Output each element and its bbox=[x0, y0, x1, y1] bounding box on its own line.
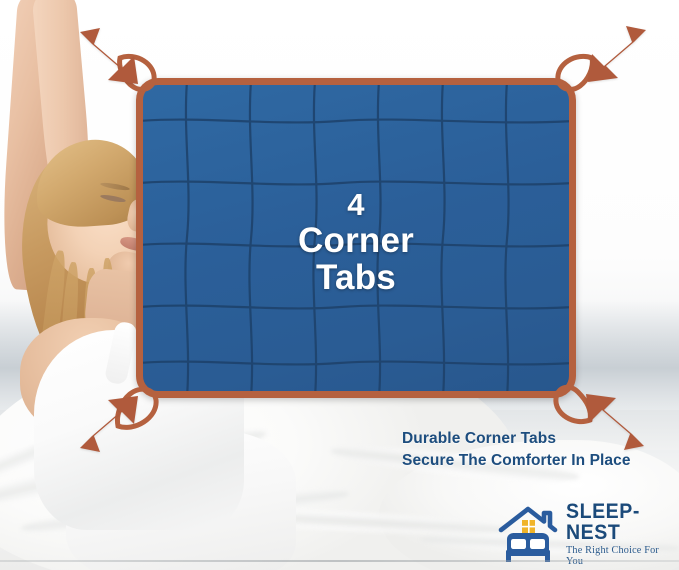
center-label-line-2: Corner bbox=[143, 222, 569, 259]
caption-line-2: Secure The Comforter In Place bbox=[402, 450, 631, 472]
feature-caption: Durable Corner Tabs Secure The Comforter… bbox=[402, 428, 631, 472]
blue-comforter: 4 Corner Tabs bbox=[136, 78, 576, 398]
comforter-center-label: 4 Corner Tabs bbox=[143, 189, 569, 296]
comforter-body: 4 Corner Tabs bbox=[136, 78, 576, 398]
center-label-line-1: 4 bbox=[143, 189, 569, 222]
brand-logo: SLEEP-NEST The Right Choice For You bbox=[497, 505, 675, 563]
logo-wordmark: SLEEP-NEST The Right Choice For You bbox=[566, 501, 675, 567]
arrow-top-left bbox=[78, 22, 150, 90]
house-with-bed-icon bbox=[497, 506, 559, 562]
bottom-edge-line bbox=[0, 560, 679, 562]
center-label-line-3: Tabs bbox=[143, 259, 569, 296]
caption-line-1: Durable Corner Tabs bbox=[402, 428, 631, 450]
brand-name: SLEEP-NEST bbox=[566, 501, 667, 543]
brand-tagline: The Right Choice For You bbox=[566, 546, 672, 567]
arrow-bottom-left bbox=[78, 390, 150, 458]
product-image-canvas: 4 Corner Tabs bbox=[0, 0, 679, 570]
arrow-top-right bbox=[576, 20, 648, 88]
